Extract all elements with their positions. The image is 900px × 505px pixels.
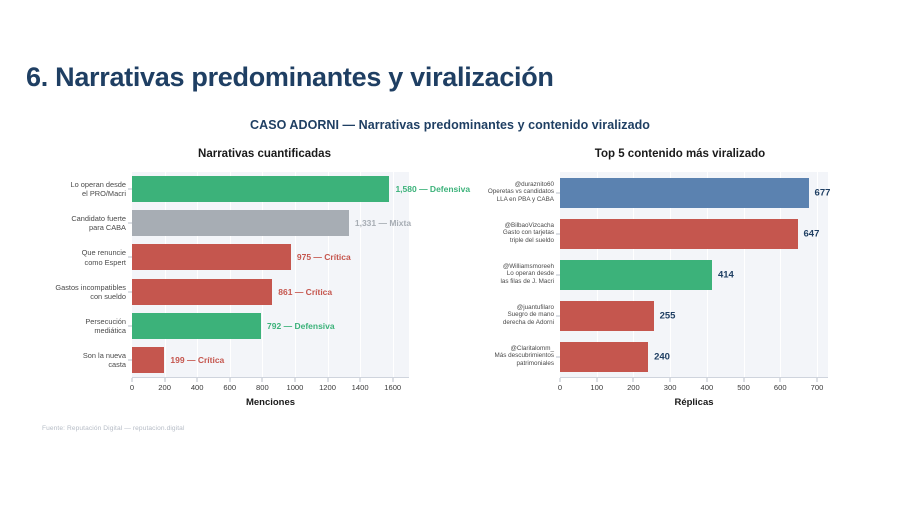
chart-area-narrativas: 1,580 — DefensivaLo operan desde el PRO/… xyxy=(22,172,477,423)
bar-row[interactable]: 861 — CríticaGastos incompatibles con su… xyxy=(132,275,409,309)
category-label: Lo operan desde el PRO/Macri xyxy=(24,180,132,199)
slide-canvas: 6. Narrativas predominantes y viralizaci… xyxy=(0,0,900,505)
x-tick-mark xyxy=(262,378,263,382)
x-axis-label: Réplicas xyxy=(560,397,828,408)
category-label: Gastos incompatibles con sueldo xyxy=(24,282,132,301)
bar-value-label: 861 — Crítica xyxy=(272,287,332,297)
x-tick-mark xyxy=(633,378,634,382)
plot-region-viralizado: 677@duraznito60 Operetas vs candidatos L… xyxy=(560,172,828,377)
bar-row[interactable]: 1,580 — DefensivaLo operan desde el PRO/… xyxy=(132,172,409,206)
x-tick-label: 600 xyxy=(774,383,787,392)
y-tick-mark xyxy=(128,257,132,258)
x-tick-mark xyxy=(706,378,707,382)
category-label: Que renuncie como Espert xyxy=(24,248,132,267)
x-tick-label: 800 xyxy=(256,383,269,392)
y-tick-mark xyxy=(556,233,560,234)
bar-row[interactable]: 647@BilbaoVizcacha Gasto con tarjetas tr… xyxy=(560,213,828,254)
x-tick-label: 1200 xyxy=(319,383,336,392)
bar-value-label: 1,331 — Mixta xyxy=(349,218,411,228)
x-tick-mark xyxy=(132,378,133,382)
bar[interactable] xyxy=(132,279,272,305)
x-tick-mark xyxy=(164,378,165,382)
y-tick-mark xyxy=(128,325,132,326)
bar-value-label: 414 xyxy=(712,269,734,280)
category-label: @Claritalomm_ Más descubrimientos patrim… xyxy=(462,345,560,369)
bar-value-label: 975 — Crítica xyxy=(291,252,351,262)
bar[interactable] xyxy=(132,176,389,202)
chart-area-viralizado: 677@duraznito60 Operetas vs candidatos L… xyxy=(460,172,890,423)
y-tick-mark xyxy=(128,291,132,292)
x-tick-label: 200 xyxy=(627,383,640,392)
source-note: Fuente: Reputación Digital — reputacion.… xyxy=(42,425,185,432)
bar-row[interactable]: 792 — DefensivaPersecución mediática xyxy=(132,309,409,343)
x-tick-label: 0 xyxy=(558,383,562,392)
x-tick-label: 600 xyxy=(223,383,236,392)
page-title: 6. Narrativas predominantes y viralizaci… xyxy=(26,62,554,93)
x-tick-label: 1400 xyxy=(352,383,369,392)
bar-value-label: 792 — Defensiva xyxy=(261,321,335,331)
x-tick-mark xyxy=(743,378,744,382)
bar-row[interactable]: 199 — CríticaSon la nueva casta xyxy=(132,343,409,377)
bar[interactable] xyxy=(560,301,654,331)
bar[interactable] xyxy=(132,347,164,373)
x-tick-label: 300 xyxy=(664,383,677,392)
bar[interactable] xyxy=(132,244,291,270)
bar-value-label: 240 xyxy=(648,351,670,362)
category-label: Son la nueva casta xyxy=(24,351,132,370)
chart-title-viralizado: Top 5 contenido más viralizado xyxy=(460,148,890,160)
bar[interactable] xyxy=(560,178,809,208)
x-tick-mark xyxy=(197,378,198,382)
bar-row[interactable]: 677@duraznito60 Operetas vs candidatos L… xyxy=(560,172,828,213)
x-tick-mark xyxy=(327,378,328,382)
x-tick-mark xyxy=(780,378,781,382)
bar-value-label: 199 — Crítica xyxy=(164,355,224,365)
chart-title-narrativas: Narrativas cuantificadas xyxy=(22,148,477,160)
bar[interactable] xyxy=(560,219,798,249)
x-axis-label: Menciones xyxy=(132,397,409,408)
x-axis-line xyxy=(560,377,828,378)
y-tick-mark xyxy=(556,315,560,316)
bar[interactable] xyxy=(132,313,261,339)
x-tick-label: 100 xyxy=(590,383,603,392)
y-tick-mark xyxy=(128,189,132,190)
bar-row[interactable]: 414@Williamsmoreeh Lo operan desde las f… xyxy=(560,254,828,295)
bar[interactable] xyxy=(560,342,648,372)
x-tick-mark xyxy=(560,378,561,382)
x-tick-label: 200 xyxy=(158,383,171,392)
y-tick-mark xyxy=(556,192,560,193)
chart-panel-viralizado: Top 5 contenido más viralizado 677@duraz… xyxy=(460,148,890,423)
y-tick-mark xyxy=(556,274,560,275)
bar-value-label: 255 xyxy=(654,310,676,321)
plot-region-narrativas: 1,580 — DefensivaLo operan desde el PRO/… xyxy=(132,172,409,377)
bar-row[interactable]: 240@Claritalomm_ Más descubrimientos pat… xyxy=(560,336,828,377)
x-tick-mark xyxy=(294,378,295,382)
x-tick-label: 500 xyxy=(737,383,750,392)
x-tick-mark xyxy=(596,378,597,382)
chart-panel-narrativas: Narrativas cuantificadas 1,580 — Defensi… xyxy=(22,148,477,423)
category-label: @duraznito60 Operetas vs candidatos LLA … xyxy=(462,181,560,205)
x-tick-mark xyxy=(229,378,230,382)
y-tick-mark xyxy=(556,356,560,357)
bar-row[interactable]: 975 — CríticaQue renuncie como Espert xyxy=(132,240,409,274)
x-tick-label: 1000 xyxy=(286,383,303,392)
bar[interactable] xyxy=(560,260,712,290)
category-label: @BilbaoVizcacha Gasto con tarjetas tripl… xyxy=(462,222,560,246)
x-tick-label: 400 xyxy=(701,383,714,392)
bar-value-label: 647 xyxy=(798,228,820,239)
x-tick-mark xyxy=(360,378,361,382)
bar-row[interactable]: 255@juantufilaro Suegro de mano derecha … xyxy=(560,295,828,336)
bar-row[interactable]: 1,331 — MixtaCandidato fuerte para CABA xyxy=(132,206,409,240)
page-subtitle: CASO ADORNI — Narrativas predominantes y… xyxy=(0,118,900,132)
bar-value-label: 677 xyxy=(809,187,831,198)
x-tick-label: 0 xyxy=(130,383,134,392)
y-tick-mark xyxy=(128,223,132,224)
x-tick-label: 1600 xyxy=(384,383,401,392)
category-label: Persecución mediática xyxy=(24,316,132,335)
bar-value-label: 1,580 — Defensiva xyxy=(389,184,470,194)
bar[interactable] xyxy=(132,210,349,236)
x-tick-label: 700 xyxy=(811,383,824,392)
category-label: @Williamsmoreeh Lo operan desde las fila… xyxy=(462,263,560,287)
x-tick-mark xyxy=(392,378,393,382)
x-tick-mark xyxy=(670,378,671,382)
category-label: Candidato fuerte para CABA xyxy=(24,214,132,233)
y-tick-mark xyxy=(128,359,132,360)
category-label: @juantufilaro Suegro de mano derecha de … xyxy=(462,304,560,328)
x-tick-mark xyxy=(816,378,817,382)
x-tick-label: 400 xyxy=(191,383,204,392)
x-axis-line xyxy=(132,377,409,378)
